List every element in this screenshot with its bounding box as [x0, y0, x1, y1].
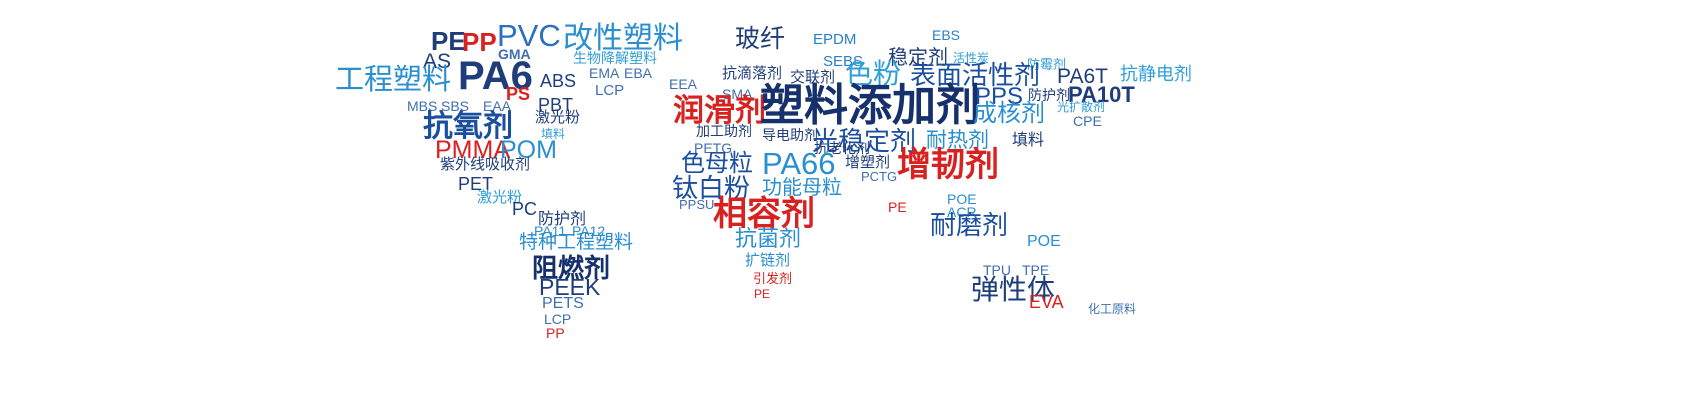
word-cloud-term[interactable]: 填料 — [1012, 133, 1044, 149]
word-cloud-term[interactable]: PP — [462, 29, 497, 55]
word-cloud-term[interactable]: PETS — [542, 296, 584, 312]
word-cloud-term[interactable]: 导电助剂 — [762, 128, 818, 142]
word-cloud-term[interactable]: PP — [546, 326, 565, 340]
word-cloud-term[interactable]: EBS — [932, 28, 960, 42]
word-cloud-term[interactable]: PA66 — [762, 148, 836, 179]
word-cloud-term[interactable]: 抗静电剂 — [1120, 65, 1192, 83]
word-cloud-term[interactable]: 激光粉 — [535, 110, 580, 125]
word-cloud-term[interactable]: LCP — [544, 312, 571, 326]
word-cloud-term[interactable]: EMA — [589, 66, 619, 80]
word-cloud-term[interactable]: CPE — [1073, 114, 1102, 128]
word-cloud-term[interactable]: 增塑剂 — [845, 155, 890, 170]
word-cloud-term[interactable]: 润滑剂 — [673, 95, 766, 126]
word-cloud-term[interactable]: ABS — [540, 72, 576, 90]
word-cloud-term[interactable]: 特种工程塑料 — [519, 233, 633, 252]
word-cloud-term[interactable]: 加工助剂 — [696, 124, 752, 138]
word-cloud-term[interactable]: 紫外线吸收剂 — [440, 157, 530, 172]
word-cloud-term[interactable]: 抗菌剂 — [735, 228, 801, 250]
word-cloud-term[interactable]: 生物降解塑料 — [573, 51, 657, 65]
word-cloud-term[interactable]: PE — [888, 200, 907, 214]
word-cloud-term[interactable]: PPSU — [679, 198, 714, 211]
word-cloud-term[interactable]: EEA — [669, 77, 697, 91]
word-cloud-term[interactable]: EPDM — [813, 32, 856, 47]
word-cloud-term[interactable]: 成核剂 — [973, 102, 1045, 126]
word-cloud-term[interactable]: LCP — [595, 83, 624, 98]
word-cloud-term[interactable]: 抗滴落剂 — [722, 66, 782, 81]
word-cloud-term[interactable]: 增韧剂 — [897, 148, 999, 182]
word-cloud-term[interactable]: EVA — [1029, 293, 1064, 311]
word-cloud-term[interactable]: 玻纤 — [735, 27, 785, 52]
word-cloud-term[interactable]: POE — [1027, 234, 1061, 250]
word-cloud-term[interactable]: 引发剂 — [753, 272, 792, 285]
word-cloud-term[interactable]: 工程塑料 — [335, 66, 451, 95]
word-cloud-term[interactable]: 光扩散剂 — [1057, 101, 1105, 113]
word-cloud-term[interactable]: PCTG — [861, 170, 897, 183]
word-cloud-term[interactable]: 化工原料 — [1088, 303, 1136, 315]
word-cloud-term[interactable]: PC — [512, 200, 537, 218]
word-cloud-term[interactable]: PE — [754, 288, 770, 300]
word-cloud-term[interactable]: 扩链剂 — [745, 253, 790, 268]
word-cloud-term[interactable]: EBA — [624, 66, 652, 80]
word-cloud-term[interactable]: 塑料添加剂 — [760, 84, 980, 128]
word-cloud-term[interactable]: 耐磨剂 — [930, 212, 1008, 238]
word-cloud-canvas: PEPPPVCGMA改性塑料玻纤EPDMEBSASPA6生物降解塑料SEBS稳定… — [0, 0, 1707, 400]
